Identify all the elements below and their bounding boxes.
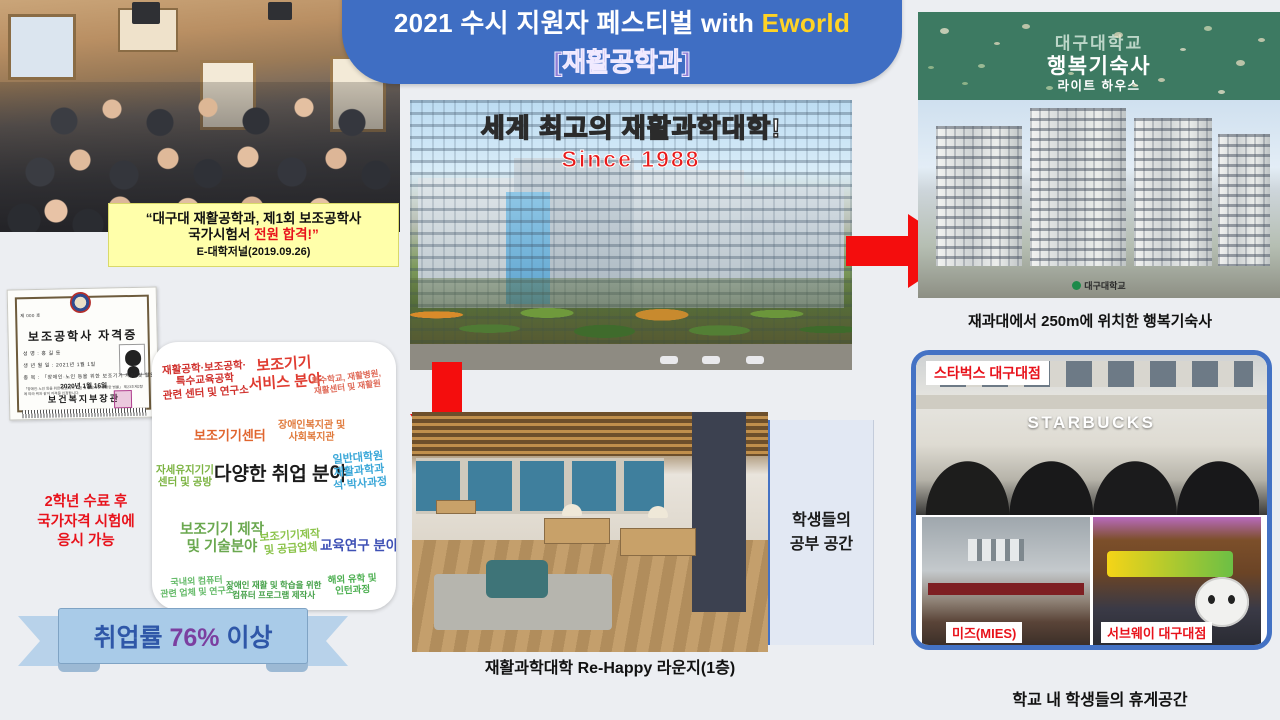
header-banner: 2021 수시 지원자 페스티벌 with Eworld [재활공학과] bbox=[342, 0, 902, 84]
confetti-icon bbox=[1046, 86, 1053, 90]
certificate-portrait bbox=[119, 344, 146, 376]
confetti-icon bbox=[1068, 72, 1074, 75]
employment-rate-text: 취업률 76% 이상 bbox=[94, 618, 273, 654]
study-space-label: 학생들의 공부 공간 bbox=[768, 420, 874, 645]
confetti-icon bbox=[1236, 60, 1245, 66]
campus-photo-title: 세계 최고의 재활과학대학! Since 1988 bbox=[410, 108, 852, 173]
news-quote-line2: 국가시험서 전원 합격!” bbox=[188, 227, 319, 243]
dormitory-caption: 재과대에서 250m에 위치한 행복기숙사 bbox=[900, 310, 1280, 331]
mies-windows bbox=[968, 539, 1024, 561]
employment-rate-prefix: 취업률 bbox=[94, 624, 170, 652]
certificate-caption-line2: 국가자격 시험에 bbox=[0, 513, 172, 533]
slide-canvas: 2021 수시 지원자 페스티벌 with Eworld [재활공학과] “대구… bbox=[0, 0, 1280, 720]
subway-photo: 서브웨이 대구대점 bbox=[1093, 517, 1261, 645]
certificate-number: 제 000 호 bbox=[20, 313, 41, 319]
starbucks-arches bbox=[924, 437, 1259, 515]
wordcloud-term: 보조기기서비스 분야 bbox=[247, 353, 322, 393]
confetti-icon bbox=[1022, 24, 1030, 29]
campus-rest-area-card: STARBUCKS 스타벅스 대구대점 미즈(MIES) 서브웨이 대구대점 bbox=[911, 350, 1272, 650]
employment-rate-value: 76% bbox=[169, 624, 219, 652]
study-desk bbox=[620, 528, 696, 556]
confetti-icon bbox=[1218, 90, 1225, 94]
wordcloud-term: 보조기기센터 bbox=[194, 428, 266, 443]
career-wordcloud: 재활공학·보조공학·특수교육공학관련 센터 및 연구소보조기기서비스 분야특수학… bbox=[152, 342, 396, 610]
dorm-tower bbox=[1030, 108, 1126, 266]
wordcloud-term: 다양한 취업 분야 bbox=[214, 464, 347, 486]
dormitory-photo: 대구대학교 bbox=[918, 100, 1280, 298]
official-seal-icon bbox=[114, 390, 132, 408]
dormitory-banner: 대구대학교 행복기숙사 라이트 하우스 bbox=[918, 12, 1280, 100]
mies-awning bbox=[928, 583, 1084, 595]
lounge-caption: 재활과학대학 Re-Happy 라운지(1층) bbox=[400, 654, 820, 678]
wordcloud-term: 자세유지기기센터 및 공방 bbox=[156, 464, 214, 489]
wordcloud-term: 장애인복지관 및사회복지관 bbox=[278, 420, 345, 444]
speaker-icon bbox=[268, 2, 292, 20]
tiger-mascot-icon bbox=[1195, 577, 1249, 627]
wordcloud-term: 장애인 재활 및 학습을 위한컴퓨터 프로그램 제작사 bbox=[226, 580, 321, 600]
news-quote-line1: “대구대 재활공학과, 제1회 보조공학사 bbox=[146, 211, 362, 227]
desk-lamp-icon bbox=[648, 506, 668, 518]
certificate-caption-line3: 응시 가능 bbox=[0, 532, 172, 552]
dorm-banner-line3: 라이트 하우스 bbox=[918, 75, 1280, 94]
certificate-caption: 2학년 수료 후 국가자격 시험에 응시 가능 bbox=[0, 493, 172, 552]
speaker-icon bbox=[132, 2, 160, 24]
certificate-image: 제 000 호 보조공학사 자격증 성 명 : 홍 길 동 생 년 월 일 : … bbox=[7, 286, 160, 420]
confetti-icon bbox=[978, 64, 985, 68]
study-desk bbox=[544, 518, 610, 544]
mies-photo: 미즈(MIES) bbox=[922, 517, 1090, 645]
starbucks-facade-band bbox=[916, 395, 1267, 409]
dorm-tower bbox=[936, 126, 1022, 266]
news-quote-highlight: 전원 합격!” bbox=[254, 227, 319, 242]
news-quote-source: E-대학저널(2019.09.26) bbox=[197, 246, 311, 259]
wordcloud-term: 재활공학·보조공학·특수교육공학관련 센터 및 연구소 bbox=[161, 359, 249, 402]
certificate-title: 보조공학사 자격증 bbox=[8, 325, 156, 345]
barcode-icon bbox=[22, 408, 146, 419]
study-space-text: 학생들의 공부 공간 bbox=[790, 509, 853, 555]
confetti-icon bbox=[940, 28, 949, 34]
confetti-icon bbox=[994, 42, 1000, 45]
certificate-row-name: 성 명 : 홍 길 동 bbox=[23, 349, 61, 357]
lounge-pillar bbox=[692, 412, 746, 612]
starbucks-label: 스타벅스 대구대점 bbox=[926, 361, 1049, 385]
confetti-icon bbox=[962, 82, 968, 85]
group-photo bbox=[0, 0, 400, 232]
certificate-caption-line1: 2학년 수료 후 bbox=[0, 493, 172, 513]
confetti-icon bbox=[1158, 78, 1165, 82]
dorm-university-logo: 대구대학교 bbox=[918, 279, 1280, 292]
employment-rate-suffix: 이상 bbox=[220, 624, 273, 652]
subway-label: 서브웨이 대구대점 bbox=[1101, 622, 1212, 643]
wordcloud-term: 특수학교, 재활병원,재활센터 및 재활원 bbox=[311, 368, 383, 396]
confetti-icon bbox=[928, 66, 934, 69]
wordcloud-term: 일반대학원재활과학과석·박사과정 bbox=[330, 450, 387, 493]
wordcloud-term: 보조기기제작및 공급업체 bbox=[259, 528, 321, 558]
lounge-armchair bbox=[486, 560, 548, 598]
car-icon bbox=[702, 356, 720, 364]
header-title-prefix: 2021 수시 지원자 페스티벌 with bbox=[394, 8, 762, 38]
arrow-shaft bbox=[846, 236, 916, 266]
header-title-line2: [재활공학과] bbox=[554, 42, 691, 79]
lounge-photo bbox=[412, 412, 768, 652]
side-table bbox=[436, 500, 476, 514]
dorm-tower bbox=[1218, 134, 1270, 266]
confetti-icon bbox=[1204, 26, 1212, 31]
confetti-icon bbox=[1180, 48, 1186, 51]
confetti-icon bbox=[1258, 38, 1265, 42]
dorm-logo-text: 대구대학교 bbox=[1084, 281, 1125, 291]
wordcloud-term: 교육연구 분야 bbox=[320, 538, 396, 554]
car-icon bbox=[660, 356, 678, 364]
header-title-line1: 2021 수시 지원자 페스티벌 with Eworld bbox=[394, 3, 850, 40]
campus-title-line1: 세계 최고의 재활과학대학! bbox=[410, 108, 852, 145]
wall-picture-frame bbox=[8, 14, 76, 80]
starbucks-brand-text: STARBUCKS bbox=[916, 413, 1267, 433]
rest-area-caption: 학교 내 학생들의 휴게공간 bbox=[920, 686, 1280, 710]
news-quote-line2-prefix: 국가시험서 bbox=[188, 227, 254, 242]
car-icon bbox=[746, 356, 764, 364]
confetti-icon bbox=[1114, 32, 1123, 38]
ribbon-band: 취업률 76% 이상 bbox=[58, 608, 308, 664]
header-title-eworld: Eworld bbox=[762, 8, 850, 38]
wordcloud-term: 해외 유학 및인턴과정 bbox=[327, 573, 377, 598]
subway-sign bbox=[1107, 551, 1233, 577]
news-quote-box: “대구대 재활공학과, 제1회 보조공학사 국가시험서 전원 합격!” E-대학… bbox=[108, 203, 399, 267]
study-space-line2: 공부 공간 bbox=[790, 536, 853, 553]
employment-rate-ribbon: 취업률 76% 이상 bbox=[18, 604, 348, 674]
campus-title-line2: Since 1988 bbox=[410, 146, 852, 173]
university-logo-icon bbox=[1072, 281, 1081, 290]
wordcloud-term: 국내외 컴퓨터관련 업체 및 연구소 bbox=[159, 574, 234, 599]
study-space-line1: 학생들의 bbox=[792, 512, 851, 529]
dorm-tower bbox=[1134, 118, 1212, 266]
confetti-icon bbox=[1132, 84, 1138, 87]
wordcloud-term: 보조기기 제작및 기술분야 bbox=[180, 522, 264, 556]
mies-label: 미즈(MIES) bbox=[946, 622, 1022, 643]
